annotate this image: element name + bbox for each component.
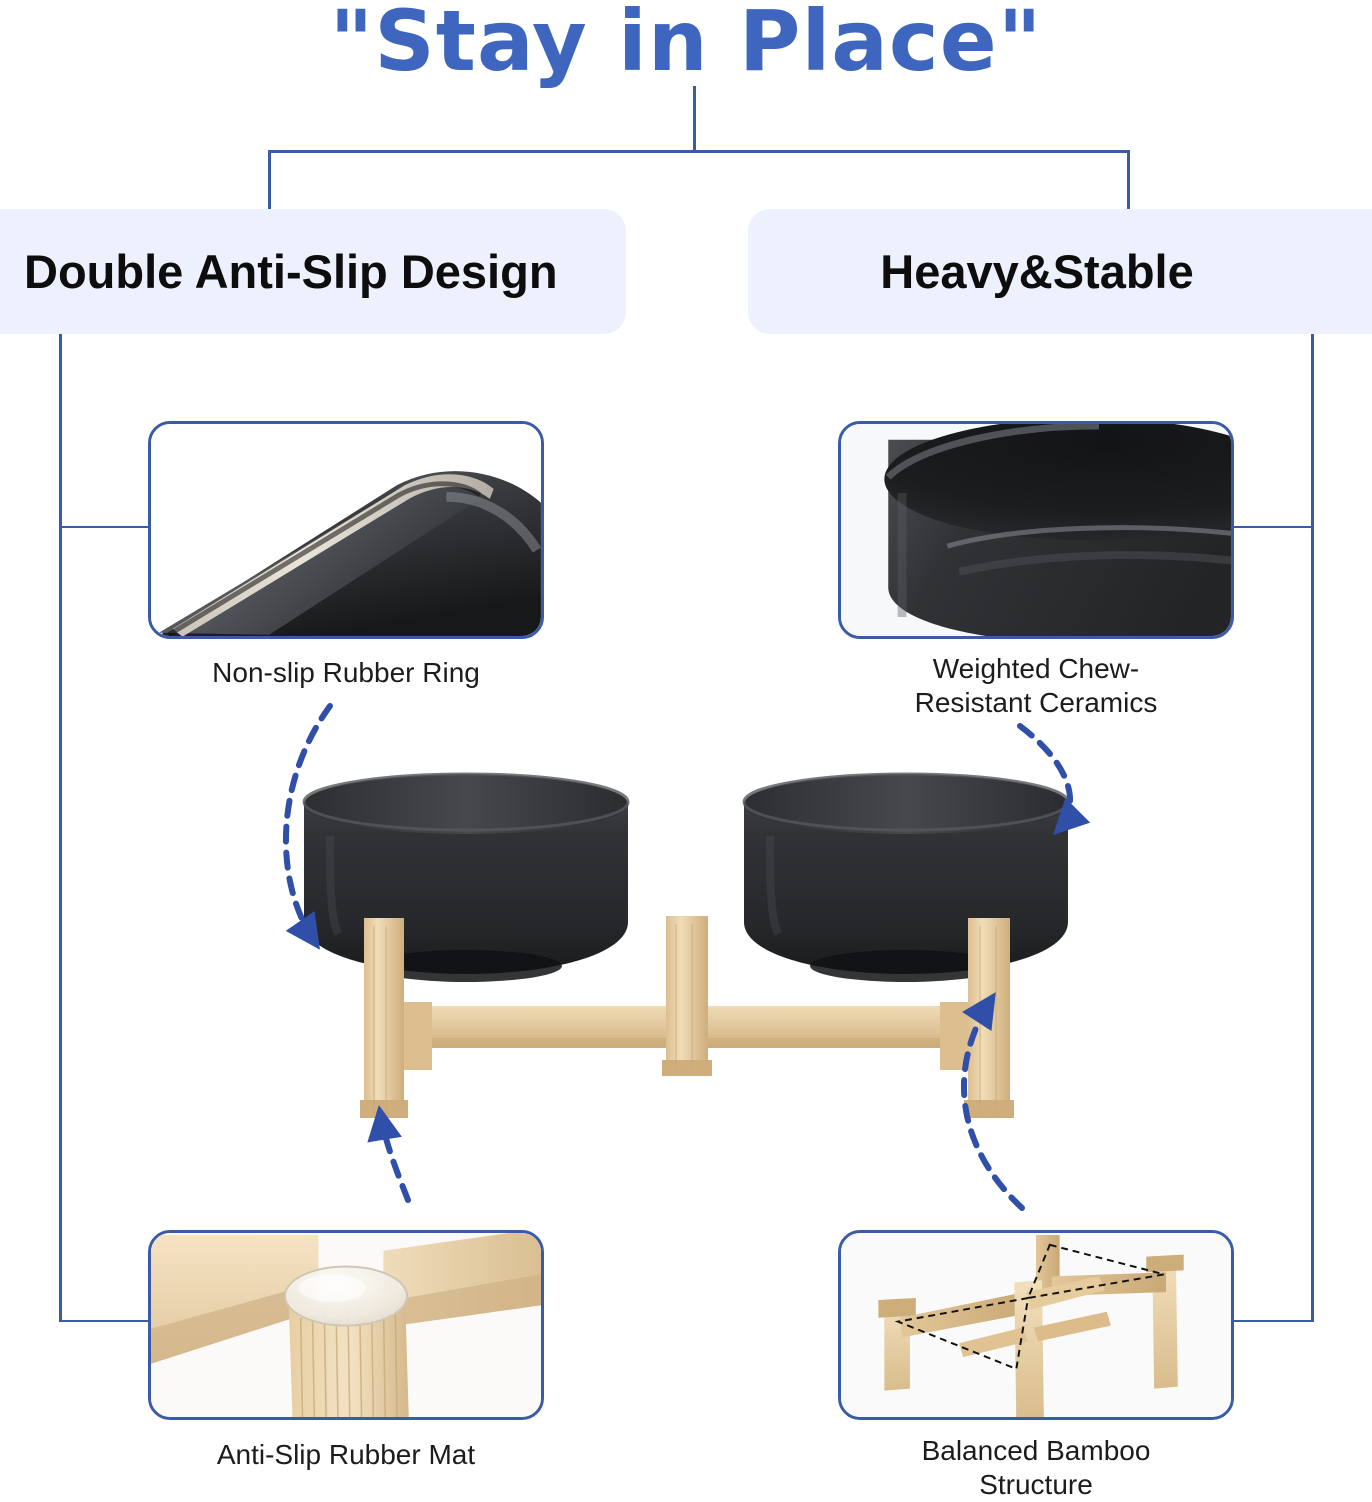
connector-branch-right-top	[1232, 526, 1314, 528]
feature-caption-balanced-bamboo-structure: Balanced BambooStructure	[838, 1434, 1234, 1502]
feature-photo-weighted-chew-resistant-ceramics	[838, 421, 1234, 639]
branch-heading-right: Heavy&Stable	[748, 209, 1372, 334]
elevated-double-bowl-bamboo-stand	[268, 770, 1104, 1170]
feature-caption-weighted-chew-resistant-ceramics: Weighted Chew-Resistant Ceramics	[828, 652, 1244, 720]
bowl-left	[304, 774, 628, 982]
branch-heading-right-label: Heavy&Stable	[880, 244, 1194, 299]
feature-photo-balanced-bamboo-structure	[838, 1230, 1234, 1420]
feature-caption-anti-slip-rubber-mat: Anti-Slip Rubber Mat	[148, 1438, 544, 1472]
page-title: "Stay in Place"	[0, 0, 1372, 90]
connector-drop-left	[268, 150, 271, 210]
hero-product-image	[268, 770, 1104, 1170]
branch-heading-left-label: Double Anti-Slip Design	[24, 244, 558, 299]
bamboo-frame-triangles-photo	[841, 1233, 1231, 1420]
connector-branch-right-bottom	[1232, 1320, 1314, 1322]
bowl-base-rubber-ring-photo	[151, 424, 541, 639]
connector-spine-left	[59, 334, 62, 1322]
bowl-interior-photo	[841, 424, 1231, 639]
connector-title-stem	[693, 86, 696, 152]
connector-branch-left-bottom	[59, 1320, 155, 1322]
branch-heading-left: Double Anti-Slip Design	[0, 209, 626, 334]
connector-horizontal-bar	[268, 150, 1130, 153]
product-infographic: "Stay in Place" Double Anti-Slip Design …	[0, 0, 1372, 1500]
feature-caption-non-slip-rubber-ring: Non-slip Rubber Ring	[148, 656, 544, 690]
feature-photo-non-slip-rubber-ring	[148, 421, 544, 639]
connector-branch-left-top	[59, 526, 155, 528]
bowl-right	[744, 774, 1068, 982]
bamboo-leg-rubber-pad-photo	[151, 1233, 541, 1420]
connector-spine-right	[1311, 334, 1314, 1322]
feature-photo-anti-slip-rubber-mat	[148, 1230, 544, 1420]
connector-drop-right	[1127, 150, 1130, 210]
